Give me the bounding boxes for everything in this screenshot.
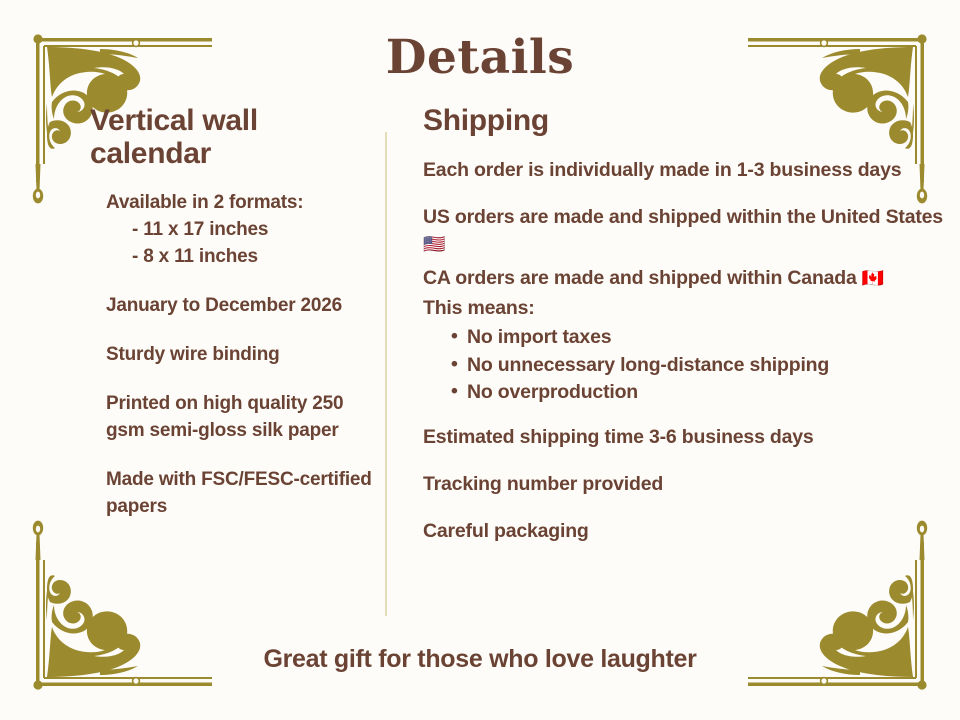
shipping-item-estimated-time: Estimated shipping time 3-6 business day… [423,424,960,452]
calendar-item-binding: Sturdy wire binding [106,342,385,369]
shipping-section-heading: Shipping [423,104,960,137]
shipping-item-us-label: US orders are made and shipped within th… [423,206,943,228]
calendar-section-heading: Vertical wall calendar [90,104,385,170]
calendar-format-option-2: - 8 x 11 inches [132,244,385,271]
details-panel: Details Vertical wall calendar Available… [0,0,960,720]
calendar-item-formats: Available in 2 formats: - 11 x 17 inches… [106,190,385,271]
footer-tagline: Great gift for those who love laughter [0,645,960,674]
shipping-this-means-label: This means: [423,295,960,323]
shipping-item-packaging: Careful packaging [423,518,960,546]
calendar-item-date-range: January to December 2026 [106,293,385,320]
us-flag-icon: 🇺🇸 [423,234,445,255]
list-item: No import taxes [451,324,960,351]
shipping-item-tracking: Tracking number provided [423,471,960,499]
shipping-item-ca: CA orders are made and shipped within Ca… [423,265,960,293]
shipping-item-us: US orders are made and shipped within th… [423,204,960,259]
calendar-column: Vertical wall calendar Available in 2 fo… [0,104,385,543]
shipping-item-production-time: Each order is individually made in 1-3 b… [423,157,960,185]
list-item: No unnecessary long-distance shipping [451,352,960,379]
canada-flag-icon: 🇨🇦 [862,268,884,289]
page-title: Details [0,34,960,81]
shipping-item-ca-label: CA orders are made and shipped within Ca… [423,267,857,289]
calendar-item-certification: Made with FSC/FESC-certified papers [106,467,385,521]
details-columns: Vertical wall calendar Available in 2 fo… [0,104,960,624]
shipping-benefits-list: No import taxes No unnecessary long-dist… [423,324,960,406]
shipping-column: Shipping Each order is individually made… [387,104,960,564]
calendar-item-paper: Printed on high quality 250 gsm semi-glo… [106,391,385,445]
list-item: No overproduction [451,379,960,406]
calendar-format-option-1: - 11 x 17 inches [132,217,385,244]
calendar-item-formats-label: Available in 2 formats: [106,192,303,213]
